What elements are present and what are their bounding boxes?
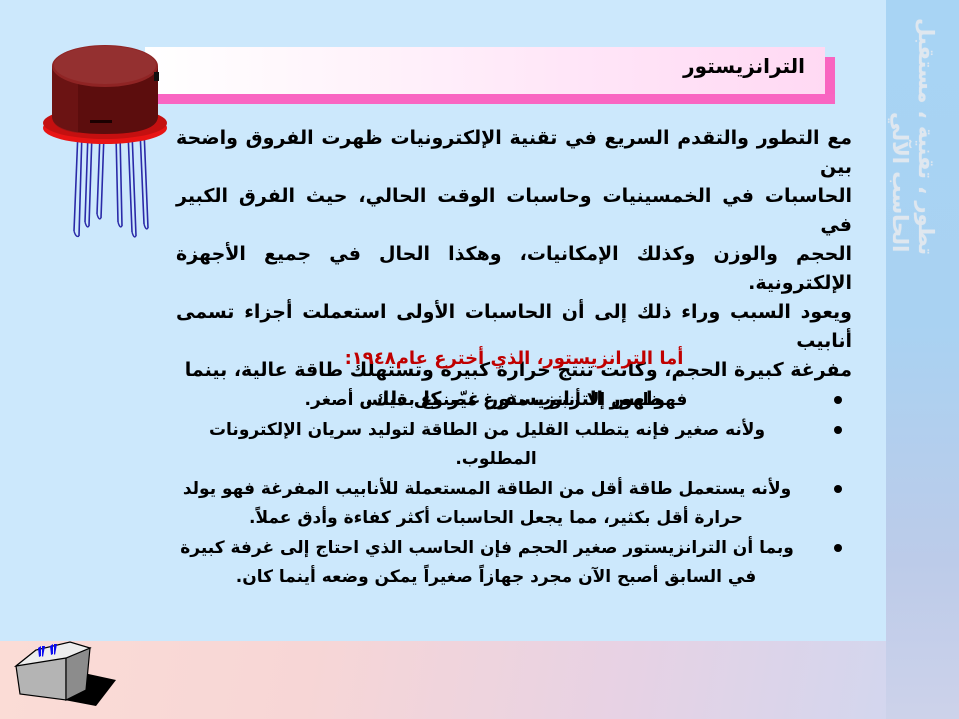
bullet-dot-icon	[834, 544, 842, 552]
slide-right-sidebar	[886, 0, 959, 719]
body-line-1: مع التطور والتقدم السريع في تقنية الإلكت…	[176, 124, 852, 182]
bullet-2-line-1: ولأنه صغير فإنه يتطلب القليل من الطاقة ل…	[176, 416, 816, 445]
gray-block-illustration	[8, 638, 128, 719]
body-paragraph: مع التطور والتقدم السريع في تقنية الإلكت…	[176, 124, 852, 414]
title-plaque: الترانزيستور	[145, 47, 825, 94]
body-line-2: الحاسبات في الخمسينيات وحاسبات الوقت الح…	[176, 182, 852, 240]
transistor-leads-icon	[74, 130, 148, 236]
bullet-3-line-2: حرارة أقل بكثير، مما يجعل الحاسبات أكثر …	[176, 504, 816, 533]
slide-canvas: تطور ، تقنية ، مستقبل الحاسب الآلي الترا…	[0, 0, 959, 719]
section-heading: أما الترانزيستور، الذي أخترع عام١٩٤٨:	[176, 348, 852, 369]
list-item: ولأنه صغير فإنه يتطلب القليل من الطاقة ل…	[176, 416, 852, 474]
transistor-svg	[30, 36, 180, 276]
list-item: ولأنه يستعمل طاقة أقل من الطاقة المستعمل…	[176, 475, 852, 533]
bullet-dot-icon	[834, 485, 842, 493]
bullet-list: فهو ليس إلا أنبوب مفرغ مصنوع بقياس أصغر.…	[176, 386, 852, 593]
body-line-3: الحجم والوزن وكذلك الإمكانيات، وهكذا الح…	[176, 240, 852, 298]
bullet-3-line-1: ولأنه يستعمل طاقة أقل من الطاقة المستعمل…	[176, 475, 816, 504]
bullet-4-line-1: وبما أن الترانزيستور صغير الحجم فإن الحا…	[176, 534, 816, 563]
bullet-dot-icon	[834, 396, 842, 404]
gray-block-svg	[8, 638, 128, 719]
slide-bottom-band	[0, 641, 886, 719]
bullet-4-line-2: في السابق أصبح الآن مجرد جهازاً صغيراً ي…	[176, 563, 816, 592]
list-item: فهو ليس إلا أنبوب مفرغ مصنوع بقياس أصغر.	[176, 386, 852, 415]
bullet-1-line-1: فهو ليس إلا أنبوب مفرغ مصنوع بقياس أصغر.	[176, 386, 816, 415]
page-title: الترانزيستور	[683, 54, 805, 78]
title-underline-rule	[145, 94, 835, 104]
list-item: وبما أن الترانزيستور صغير الحجم فإن الحا…	[176, 534, 852, 592]
bullet-2-line-2: المطلوب.	[176, 445, 816, 474]
bullet-dot-icon	[834, 426, 842, 434]
transistor-illustration	[30, 36, 180, 276]
